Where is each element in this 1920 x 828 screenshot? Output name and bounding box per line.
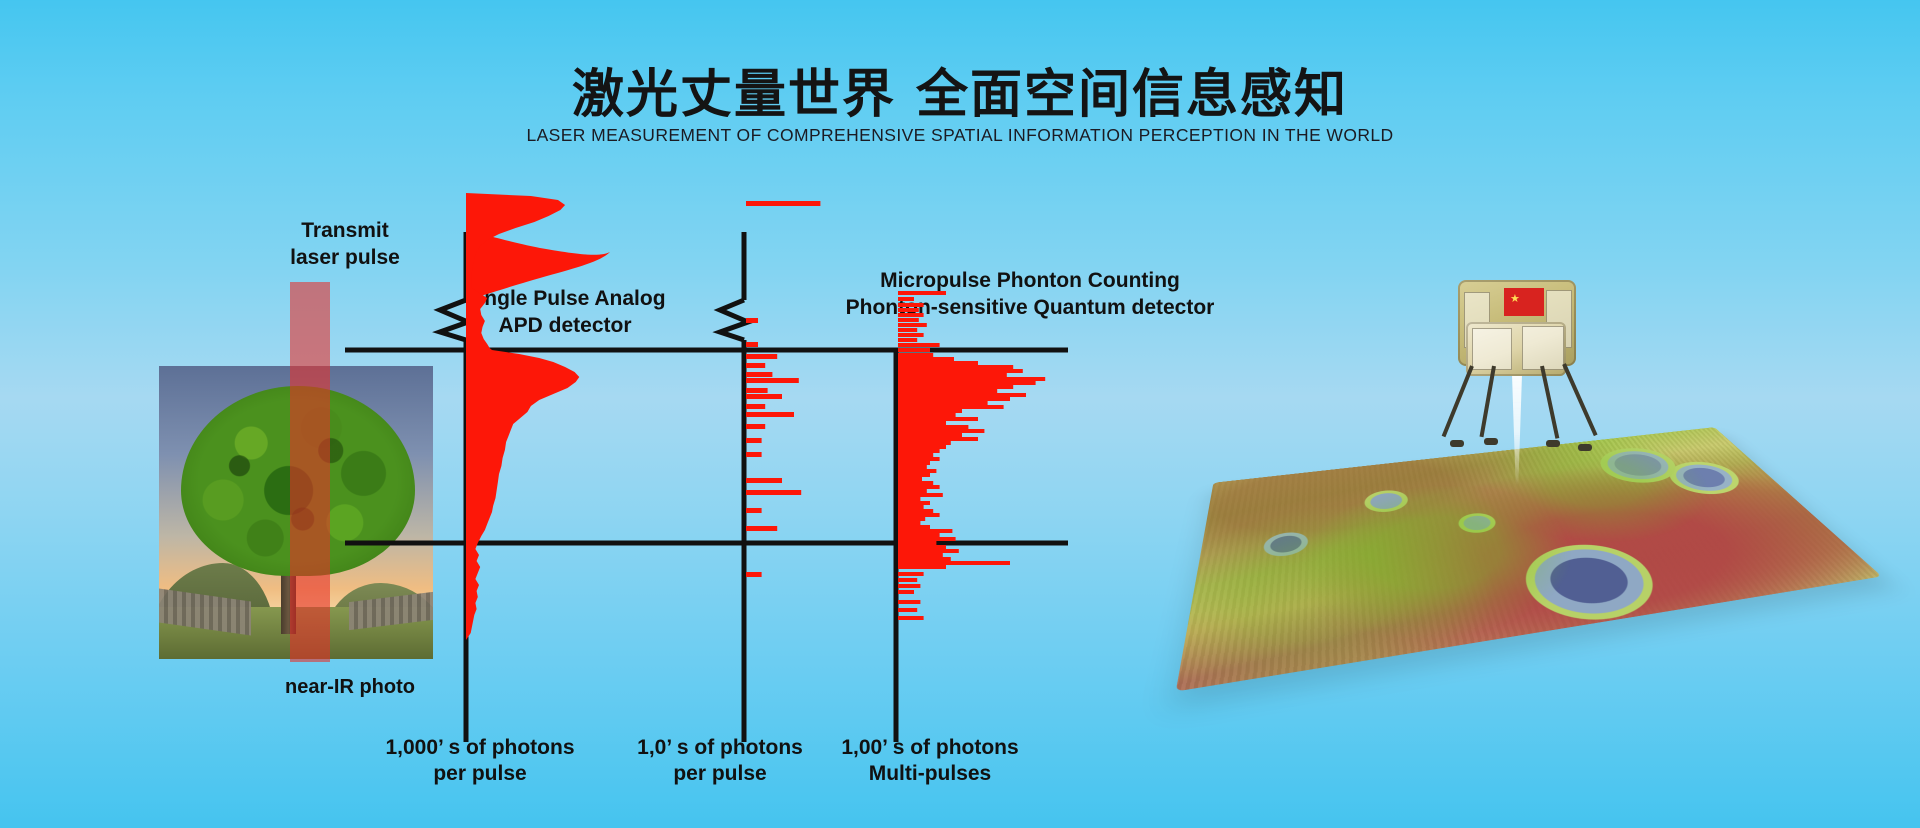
terrain-visualization: ★ xyxy=(1180,250,1860,770)
plot3-bars xyxy=(898,291,1045,620)
banner-stage: 激光丈量世界 全面空间信息感知 LASER MEASUREMENT OF COM… xyxy=(0,0,1920,828)
plot2-axis-break xyxy=(720,300,748,340)
lander-foot-3 xyxy=(1546,440,1560,447)
lander-leg-3 xyxy=(1540,366,1559,439)
lidar-terrain-model xyxy=(1176,427,1882,691)
lander-foot-4 xyxy=(1578,444,1592,451)
flag-star-icon: ★ xyxy=(1510,294,1520,305)
plot1-axis-break xyxy=(440,300,468,340)
transmit-pulse-waveform xyxy=(466,232,610,300)
lander-foot-2 xyxy=(1484,438,1498,445)
lander-panel-4 xyxy=(1522,326,1564,370)
lidar-diagram: Transmit laser pulse Single Pulse Analog… xyxy=(0,0,1120,828)
lander-panel-3 xyxy=(1472,328,1512,370)
lander-leg-4 xyxy=(1562,363,1597,436)
lunar-lander: ★ xyxy=(1430,270,1610,450)
waveform-plots-svg xyxy=(0,0,1120,828)
china-flag-icon: ★ xyxy=(1504,288,1544,316)
lander-foot-1 xyxy=(1450,440,1464,447)
lander-leg-1 xyxy=(1442,365,1474,437)
lander-leg-2 xyxy=(1480,366,1496,438)
plot2-bars xyxy=(746,201,820,577)
